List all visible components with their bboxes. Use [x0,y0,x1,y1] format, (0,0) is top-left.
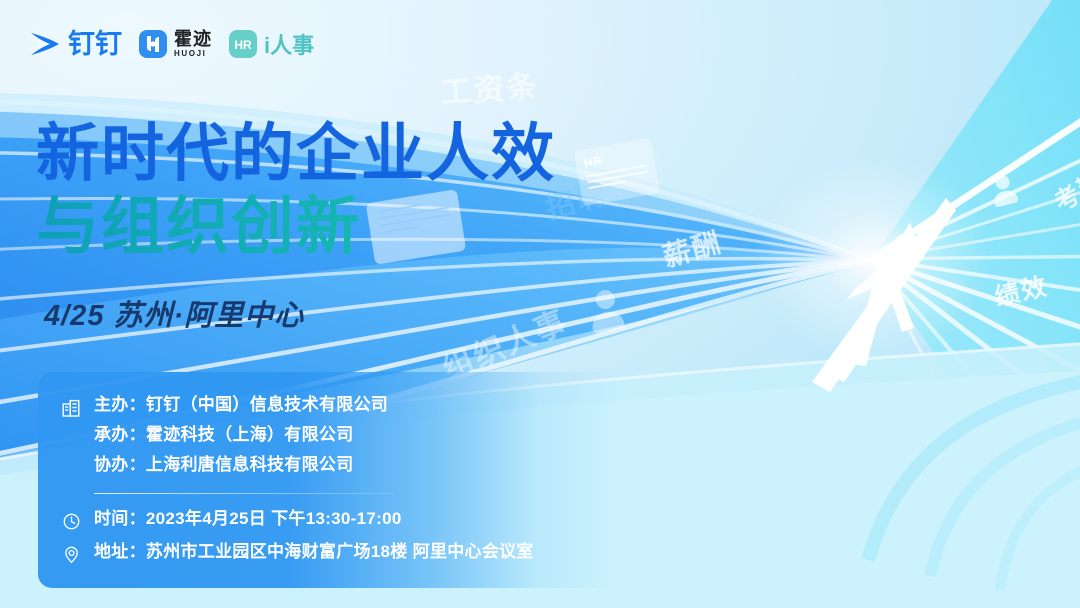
location-pin-icon [60,544,82,566]
headline-line-1: 新时代的企业人效 [36,118,556,191]
organizer-line: 协办：上海利唐信息科技有限公司 [94,454,388,477]
clock-icon [60,511,82,533]
event-date-location: 4/25 苏州·阿里中心 [44,292,304,334]
running-person-figure [806,196,956,396]
organizer-row: 主办：钉钉（中国）信息技术有限公司 承办：霍迹科技（上海）有限公司 协办：上海利… [60,394,698,477]
logo-irenshi-label: i人事 [264,28,314,60]
logo-huoji-label-cn: 霍迹 [174,30,212,48]
logo-huoji-text: 霍迹 HUOJI [174,30,212,58]
dingtalk-wing-icon [28,29,62,59]
building-icon [60,397,82,419]
irenshi-mark-icon: HR [228,29,258,59]
keyword-gongzitiao: 工资条 [439,61,541,113]
logo-huoji[interactable]: 霍迹 HUOJI [138,29,212,59]
time-text: 时间：2023年4月25日 下午13:30-17:00 [94,508,402,531]
address-row: 地址：苏州市工业园区中海财富广场18楼 阿里中心会议室 [60,541,698,566]
info-divider [94,493,394,494]
person-head-shape [594,289,616,311]
time-row: 时间：2023年4月25日 下午13:30-17:00 [60,508,698,533]
logo-irenshi[interactable]: HR i人事 [228,28,314,60]
info-bottom-rows: 时间：2023年4月25日 下午13:30-17:00 地址：苏州市工业园区中海… [60,508,698,566]
person-body-shape [992,188,1019,207]
logo-dingtalk[interactable]: 钉钉 [28,29,122,59]
headline-line-2: 与组织创新 [36,191,556,264]
logo-bar: 钉钉 霍迹 HUOJI HR i人事 [28,28,314,60]
person-body-shape [590,309,625,333]
organizer-line: 承办：霍迹科技（上海）有限公司 [94,424,388,447]
logo-dingtalk-label: 钉钉 [68,31,122,58]
organizer-line: 主办：钉钉（中国）信息技术有限公司 [94,394,388,417]
logo-huoji-label-en: HUOJI [174,50,212,58]
person-head-shape [994,174,1011,191]
huoji-mark-icon [138,29,168,59]
svg-text:HR: HR [234,38,252,52]
person-avatar-icon [586,287,627,336]
event-poster: 工资条 招聘 薪酬 组织人事 绩效 考勤 HR [0,0,1080,608]
headline: 新时代的企业人效 与组织创新 [36,118,556,264]
address-text: 地址：苏州市工业园区中海财富广场18楼 阿里中心会议室 [94,541,534,564]
organizer-lines: 主办：钉钉（中国）信息技术有限公司 承办：霍迹科技（上海）有限公司 协办：上海利… [94,394,388,477]
event-info-card: 主办：钉钉（中国）信息技术有限公司 承办：霍迹科技（上海）有限公司 协办：上海利… [38,372,698,588]
